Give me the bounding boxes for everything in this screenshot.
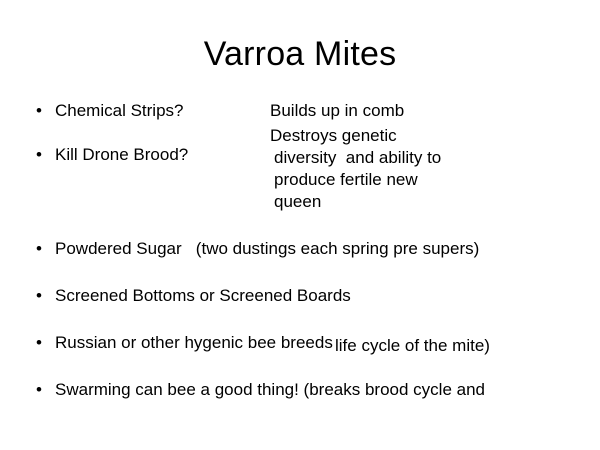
bullet-icon: •	[36, 332, 46, 354]
right-column-line-5: queen	[274, 191, 321, 213]
right-column-line-4: produce fertile new	[274, 169, 418, 191]
list-item[interactable]: • Powdered Sugar (two dustings each spri…	[0, 238, 600, 260]
top-section: • Chemical Strips? • Kill Drone Brood? B…	[0, 100, 600, 225]
list-item-label: Russian or other hygenic bee breeds	[55, 332, 333, 354]
right-column-line-3: diversity and ability to	[274, 147, 441, 169]
bullet-icon: •	[36, 238, 46, 260]
slide: Varroa Mites • Chemical Strips? • Kill D…	[0, 0, 600, 450]
list-item-label: Kill Drone Brood?	[55, 144, 188, 166]
list-item-label: Powdered Sugar (two dustings each spring…	[55, 238, 479, 260]
bottom-section: • Powdered Sugar (two dustings each spri…	[0, 238, 600, 326]
list-item[interactable]: • Russian or other hygenic bee breeds	[0, 332, 600, 354]
list-item[interactable]: • Screened Bottoms or Screened Boards	[0, 285, 600, 307]
right-column-line-1: Builds up in comb	[270, 100, 404, 122]
bullet-icon: •	[36, 100, 46, 122]
list-item[interactable]: • Swarming can bee a good thing! (breaks…	[0, 379, 600, 401]
bullet-icon: •	[36, 379, 46, 401]
list-item-label: Chemical Strips?	[55, 100, 184, 122]
page-title: Varroa Mites	[0, 33, 600, 75]
list-item-label: Screened Bottoms or Screened Boards	[55, 285, 351, 307]
slide-body: • Chemical Strips? • Kill Drone Brood? B…	[0, 100, 600, 225]
right-column-line-2: Destroys genetic	[270, 125, 397, 147]
bullet-icon: •	[36, 144, 46, 166]
bullet-icon: •	[36, 285, 46, 307]
list-item-label: Swarming can bee a good thing! (breaks b…	[55, 379, 485, 401]
list-item-continuation: life cycle of the mite)	[335, 335, 490, 357]
